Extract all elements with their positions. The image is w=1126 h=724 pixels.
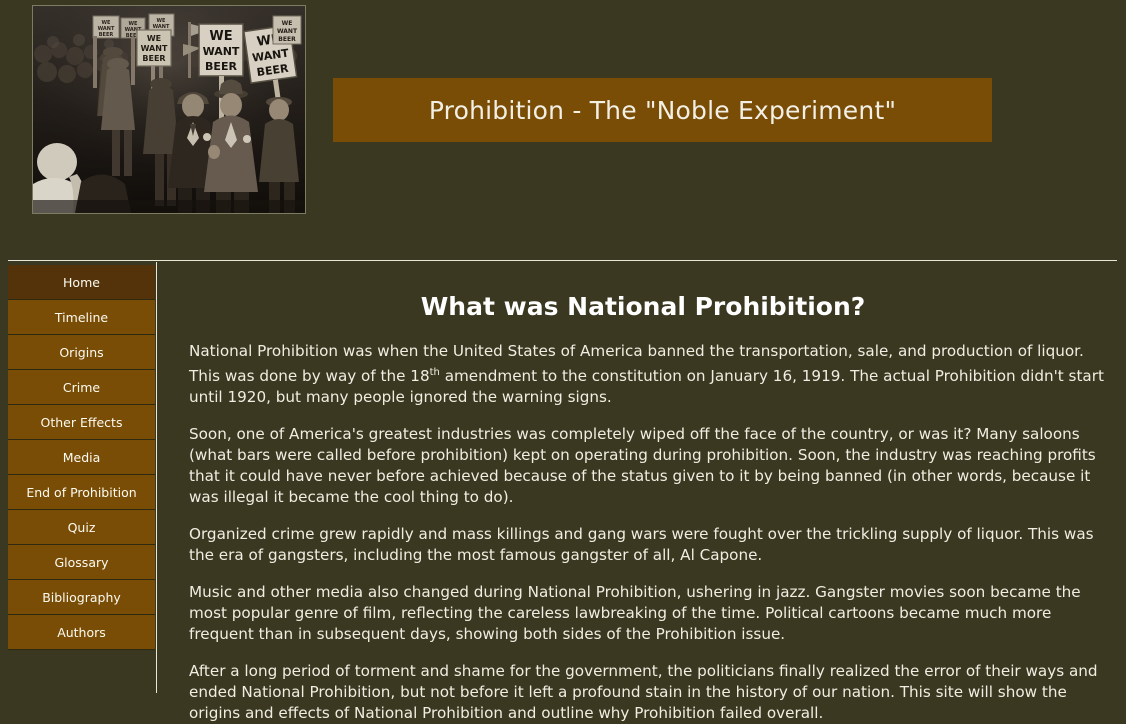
- sidebar-item-label: Bibliography: [42, 590, 121, 605]
- sidebar-item-timeline[interactable]: Timeline: [8, 300, 155, 335]
- sidebar-content-divider: [156, 262, 157, 693]
- content-paragraph-2: Soon, one of America's greatest industri…: [168, 424, 1119, 508]
- content-paragraph-3: Organized crime grew rapidly and mass ki…: [168, 524, 1119, 566]
- site-title-banner: Prohibition - The "Noble Experiment": [333, 78, 992, 142]
- prohibition-protest-photo: WEWANTBEER WEWANTBEER WEWANTBEER WE WANT…: [32, 5, 306, 214]
- sidebar-item-label: Crime: [63, 380, 100, 395]
- sidebar-item-quiz[interactable]: Quiz: [8, 510, 155, 545]
- main-content: What was National Prohibition? National …: [168, 265, 1118, 724]
- sidebar-item-authors[interactable]: Authors: [8, 615, 155, 650]
- sidebar-item-origins[interactable]: Origins: [8, 335, 155, 370]
- sidebar-navigation: Home Timeline Origins Crime Other Effect…: [8, 265, 155, 650]
- sidebar-item-glossary[interactable]: Glossary: [8, 545, 155, 580]
- content-paragraph-1: National Prohibition was when the United…: [168, 341, 1119, 408]
- protest-photo-illustration: WEWANTBEER WEWANTBEER WEWANTBEER WE WANT…: [33, 6, 305, 213]
- page-header: WEWANTBEER WEWANTBEER WEWANTBEER WE WANT…: [0, 0, 1126, 261]
- sidebar-item-label: Quiz: [68, 520, 96, 535]
- sidebar-item-end-of-prohibition[interactable]: End of Prohibition: [8, 475, 155, 510]
- sidebar-item-label: Home: [63, 275, 100, 290]
- sidebar-item-label: Media: [63, 450, 101, 465]
- sidebar-item-bibliography[interactable]: Bibliography: [8, 580, 155, 615]
- sidebar-item-label: Origins: [59, 345, 103, 360]
- sidebar-item-other-effects[interactable]: Other Effects: [8, 405, 155, 440]
- ordinal-superscript: th: [430, 367, 440, 378]
- sidebar-item-crime[interactable]: Crime: [8, 370, 155, 405]
- sidebar-item-label: End of Prohibition: [26, 485, 136, 500]
- sidebar-item-home[interactable]: Home: [8, 265, 155, 300]
- site-title: Prohibition - The "Noble Experiment": [429, 96, 896, 125]
- content-paragraph-4: Music and other media also changed durin…: [168, 582, 1119, 645]
- sidebar-item-label: Other Effects: [41, 415, 123, 430]
- header-divider-rule: [8, 260, 1117, 261]
- page-title: What was National Prohibition?: [168, 265, 1118, 321]
- sidebar-item-label: Glossary: [54, 555, 108, 570]
- sidebar-item-label: Timeline: [55, 310, 108, 325]
- sidebar-item-media[interactable]: Media: [8, 440, 155, 475]
- sidebar-item-label: Authors: [57, 625, 106, 640]
